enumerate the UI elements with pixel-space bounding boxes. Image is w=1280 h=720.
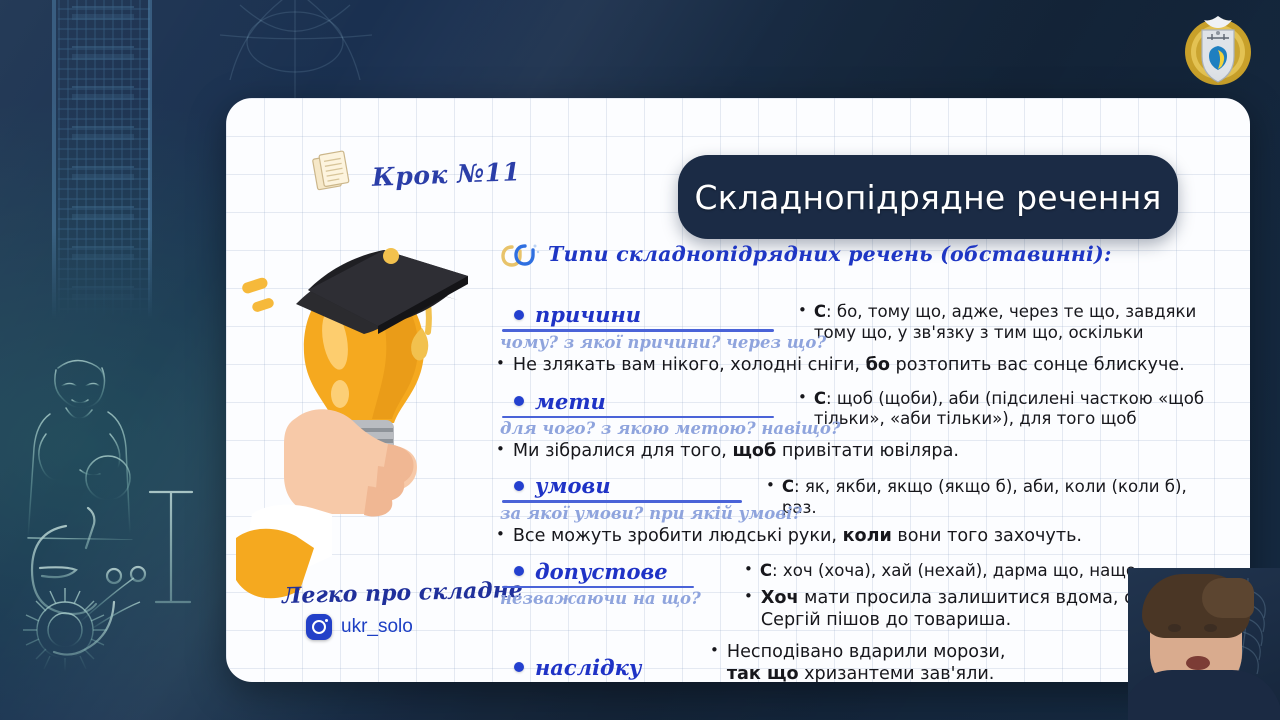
example-conjunction: бо — [866, 355, 890, 375]
bullet-dot — [514, 481, 524, 491]
slide-title-pill: Складнопідрядне речення — [678, 155, 1178, 239]
presenter-video-overlay[interactable] — [1128, 568, 1280, 720]
section-naslidku: наслідку • Несподівано вдарили морози, т… — [496, 641, 1226, 682]
example-conjunction: щоб — [732, 441, 776, 461]
term-label: мети — [535, 389, 606, 414]
section-dopustove: допустове незважаючи на що? • С: хоч (хо… — [496, 559, 1226, 631]
presenter-eye-left — [1168, 624, 1181, 632]
example-before: Ми зібралися для того, — [513, 441, 733, 461]
term-label: допустове — [535, 559, 668, 584]
slide-card: Крок №11 Складнопідрядне речення — [226, 98, 1250, 682]
conjunction-prefix: С — [814, 389, 826, 408]
conjunction-list: : бо, тому що, адже, через те що, завдяк… — [814, 302, 1196, 342]
section-mety: мети для чого? з якою метою? навіщо? • С… — [496, 389, 1226, 463]
example-conjunction: Хоч — [761, 588, 799, 608]
example-after: розтопить вас сонце блискуче. — [890, 355, 1185, 375]
section-prychyny: причини чому? з якої причини? через що? … — [496, 302, 1226, 376]
term-label: наслідку — [535, 655, 641, 680]
section-umovy: умови за якої умови? при якій умові? • С… — [496, 473, 1226, 547]
vyshyvanka-border-right — [148, 0, 152, 320]
list-bullet: • — [496, 440, 505, 462]
term-label: умови — [535, 473, 611, 498]
list-bullet: • — [744, 561, 753, 582]
example-before: Не злякать вам нікого, холодні сніги, — [513, 355, 866, 375]
notes-icon — [309, 148, 357, 196]
example-after: привітати ювіляра. — [776, 441, 959, 461]
lightbulb-graduation-cap-illustration — [236, 208, 486, 608]
example-after: вони того захочуть. — [892, 526, 1082, 546]
question-words: незважаючи на що? — [496, 589, 734, 608]
term-underline — [502, 500, 742, 503]
example-after: хризантеми зав'яли. — [799, 664, 995, 682]
presenter-eye-right — [1204, 624, 1217, 632]
slide-stage: Крок №11 Складнопідрядне речення — [0, 0, 1280, 720]
example-after: мати просила залишитися вдома, однак Сер… — [761, 588, 1180, 630]
instagram-handle-label: ukr_solo — [341, 616, 413, 638]
list-bullet: • — [710, 641, 719, 682]
term-underline — [502, 586, 694, 589]
question-words: для чого? з якою метою? навіщо? — [496, 419, 788, 438]
university-emblem — [1178, 10, 1258, 90]
term-label: причини — [535, 302, 641, 327]
subtitle-row: Типи складнопідрядних речень (обставинні… — [496, 246, 1226, 276]
conjunctions-line: • С: щоб (щоби), аби (підсилені часткою … — [798, 389, 1226, 430]
sunflower-line-art — [23, 578, 140, 672]
step-label: Крок №11 — [371, 157, 520, 192]
conjunction-list: : щоб (щоби), аби (підсилені часткою «що… — [814, 389, 1204, 429]
content-column: Типи складнопідрядних речень (обставинні… — [496, 246, 1226, 682]
question-words: чому? з якої причини? через що? — [496, 333, 788, 352]
list-bullet: • — [496, 354, 505, 376]
conjunction-prefix: С — [782, 477, 794, 496]
prince-volodymyr-line-art — [10, 330, 225, 710]
conjunctions-line: • С: бо, тому що, адже, через те що, зав… — [798, 302, 1226, 343]
conjunctions-line: • С: як, якби, якщо (якщо б), аби, коли … — [766, 477, 1226, 518]
section-subtitle: Типи складнопідрядних речень (обставинні… — [548, 242, 1112, 266]
bullet-dot — [514, 662, 524, 672]
example-conjunction: так що — [727, 664, 799, 682]
vyshyvanka-border-left — [52, 0, 56, 320]
example-before: Несподівано вдарили морози, — [727, 642, 1006, 662]
term-underline — [502, 329, 774, 332]
instagram-icon[interactable] — [306, 614, 332, 640]
conjunction-prefix: С — [760, 561, 772, 580]
example-conjunction: коли — [843, 526, 892, 546]
list-bullet: • — [744, 587, 753, 631]
conjunction-prefix: С — [814, 302, 826, 321]
example-sentence: • Ми зібралися для того, щоб привітати ю… — [496, 440, 1226, 462]
term-underline — [502, 416, 774, 419]
bullet-dot — [514, 310, 524, 320]
presenter-hair — [1142, 574, 1250, 638]
example-sentence: • Все можуть зробити людські руки, коли … — [496, 525, 1226, 547]
page-title: Складнопідрядне речення — [694, 178, 1161, 217]
presenter-torso — [1128, 670, 1280, 720]
conjunction-list: : як, якби, якщо (якщо б), аби, коли (ко… — [782, 477, 1187, 517]
conjunction-list: : хоч (хоча), хай (нехай), дарма що, нащ… — [772, 561, 1136, 580]
list-bullet: • — [496, 525, 505, 547]
example-before: Все можуть зробити людські руки, — [513, 526, 843, 546]
bullet-dot — [514, 566, 524, 576]
instagram-handle-row[interactable]: ukr_solo — [306, 614, 413, 640]
vyshyvanka-pattern — [58, 0, 150, 320]
bullet-dot — [514, 396, 524, 406]
example-sentence: • Не злякать вам нікого, холодні сніги, … — [496, 354, 1226, 376]
presenter-mouth — [1186, 656, 1210, 670]
paperclip-icon — [498, 242, 540, 270]
question-words: за якої умови? при якій умові? — [496, 504, 756, 523]
